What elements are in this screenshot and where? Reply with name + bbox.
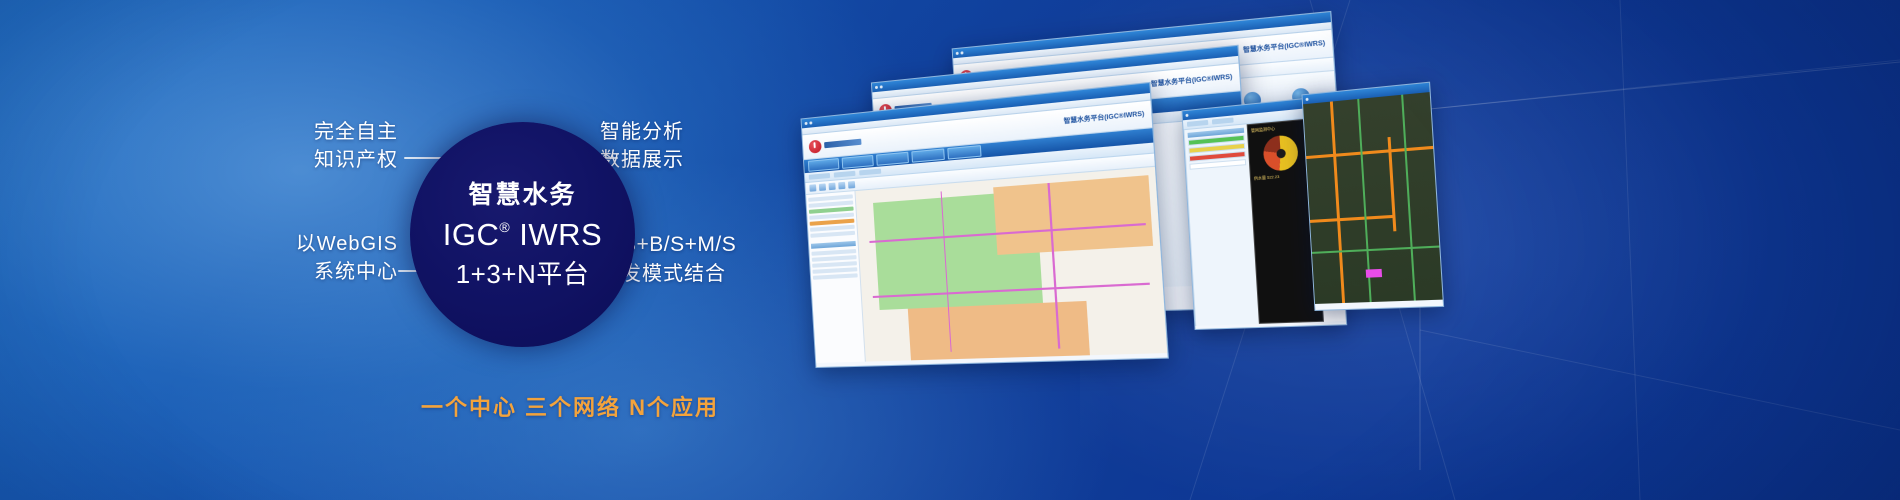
banner-root: 完全自主 知识产权 以WebGIS 系统中心 智能分析 数据展示 C/S+B/S… [0,0,1900,500]
circle-product-suffix: IWRS [519,219,602,250]
attribute-panel-header [811,241,856,249]
map-zone-orange [993,175,1154,255]
subbar-item[interactable] [859,169,881,176]
circle-product-name: IGC [443,219,500,250]
map-zone-orange-2 [907,300,1090,361]
window-dot-icon [1185,114,1188,117]
pipeline-branch [1401,95,1416,301]
gis-map-canvas[interactable] [855,167,1167,362]
zoom-tool-icon[interactable] [819,183,826,191]
layers-tool-icon[interactable] [848,181,855,189]
circle-product: IGC ® IWRS [443,219,602,250]
label-top-left-line1: 完全自主 [268,118,398,146]
water-drop-icon [809,139,822,153]
satellite-basemap [1303,92,1443,304]
label-top-left: 完全自主 知识产权 [268,118,398,175]
pipeline-main [1310,215,1396,223]
layer-tree-row[interactable] [810,231,855,238]
platform-circle: 智慧水务 IGC ® IWRS 1+3+N平台 [410,122,635,347]
window-dot-icon [805,122,808,125]
circle-title: 智慧水务 [468,183,576,208]
dashboard-title: 管网监测中心 [1251,123,1308,134]
label-top-left-line2: 知识产权 [268,146,398,174]
label-bottom-left: 以WebGIS 系统中心 [258,230,398,287]
label-bottom-left-line2: 系统中心 [258,258,398,286]
pipeline-main [1306,146,1433,159]
pan-tool-icon[interactable] [809,184,816,192]
window-satellite-map[interactable] [1301,82,1444,311]
subbar-item[interactable] [1187,120,1208,127]
label-top-right-line2: 数据展示 [600,146,790,174]
satellite-canvas[interactable] [1303,92,1443,304]
product-title: 智慧水务平台(IGC®IWRS) [1151,71,1233,89]
label-top-right-line1: 智能分析 [600,118,790,146]
window-dot-icon [960,51,963,54]
status-pie-chart [1262,134,1299,172]
label-top-right: 智能分析 数据展示 [600,118,790,175]
select-tool-icon[interactable] [829,183,836,191]
product-title: 智慧水务平台(IGC®IWRS) [1243,37,1326,54]
platform-diagram: 完全自主 知识产权 以WebGIS 系统中心 智能分析 数据展示 C/S+B/S… [278,100,778,370]
window-dot-icon [809,121,812,124]
pipeline-main [1330,101,1345,303]
product-title: 智慧水务平台(IGC®IWRS) [1063,108,1144,126]
tagline: 一个中心 三个网络 N个应用 [360,390,780,422]
subbar-item[interactable] [809,173,830,180]
registered-mark-icon: ® [499,220,510,234]
window-dot-icon [880,85,883,88]
subbar-item[interactable] [834,171,856,178]
gis-workspace [806,167,1167,363]
label-bottom-left-line1: 以WebGIS [258,230,398,258]
dashboard-value: 供水量 522.23 [1254,171,1311,182]
window-gis-desktop[interactable]: 智慧水务平台(IGC®IWRS) [801,82,1169,368]
screenshot-stack: 智慧水务平台(IGC®IWRS) [790,48,1620,378]
circle-platform: 1+3+N平台 [456,261,590,287]
attribute-row[interactable] [813,273,858,279]
pipeline-branch [1312,245,1439,253]
logo-wordmark [824,139,861,149]
window-dot-icon [875,86,878,89]
selection-highlight [1365,269,1381,278]
window-dot-icon [1306,98,1309,101]
window-dot-icon [956,52,959,55]
measure-tool-icon[interactable] [838,182,845,190]
subbar-item[interactable] [1212,117,1234,124]
app-logo [809,135,862,153]
